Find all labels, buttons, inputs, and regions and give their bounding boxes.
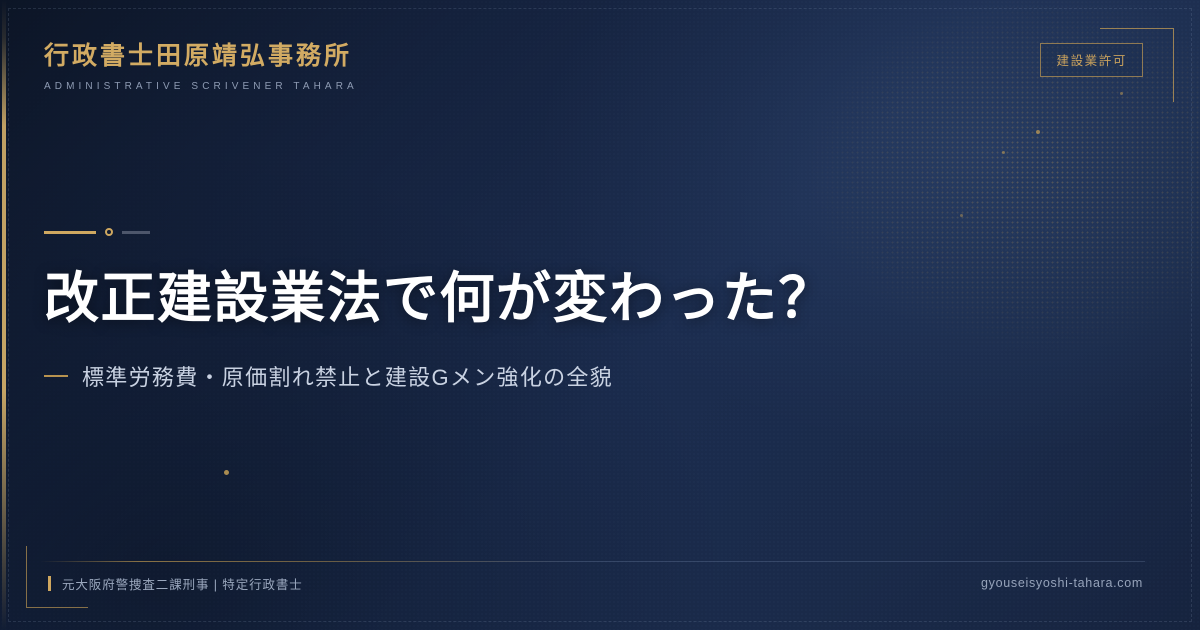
gold-tick-icon xyxy=(48,576,51,591)
particle-dot xyxy=(960,214,963,217)
ogp-banner: 行政書士田原靖弘事務所 ADMINISTRATIVE SCRIVENER TAH… xyxy=(0,0,1200,630)
particle-dot xyxy=(224,470,229,475)
dash-icon xyxy=(44,375,68,377)
subtitle-row: 標準労務費・原価割れ禁止と建設Gメン強化の全貌 xyxy=(44,360,1140,392)
footer-divider xyxy=(40,561,1145,562)
website-url: gyouseisyoshi-tahara.com xyxy=(981,576,1143,590)
particle-dot xyxy=(1036,130,1040,134)
gold-line-icon xyxy=(44,231,96,234)
particle-dot xyxy=(1120,92,1123,95)
brand-header: 行政書士田原靖弘事務所 ADMINISTRATIVE SCRIVENER TAH… xyxy=(44,36,358,92)
eyebrow-ornament xyxy=(44,225,1140,239)
credentials-text: 元大阪府警捜査二課刑事 | 特定行政書士 xyxy=(62,574,303,593)
status-badge: 建設業許可 xyxy=(1040,43,1143,77)
brand-name-en: ADMINISTRATIVE SCRIVENER TAHARA xyxy=(44,81,358,92)
main-content: 改正建設業法で何が変わった？ 標準労務費・原価割れ禁止と建設Gメン強化の全貌 xyxy=(44,225,1140,392)
page-title: 改正建設業法で何が変わった？ xyxy=(44,265,1140,332)
page-subtitle: 標準労務費・原価割れ禁止と建設Gメン強化の全貌 xyxy=(82,360,613,392)
footer-credentials: 元大阪府警捜査二課刑事 | 特定行政書士 xyxy=(48,574,303,593)
left-gold-accent-bar xyxy=(2,0,6,630)
brand-name-ja: 行政書士田原靖弘事務所 xyxy=(44,36,358,72)
ring-dot-icon xyxy=(105,228,113,236)
grey-line-icon xyxy=(122,231,150,234)
particle-dot xyxy=(1002,151,1005,154)
